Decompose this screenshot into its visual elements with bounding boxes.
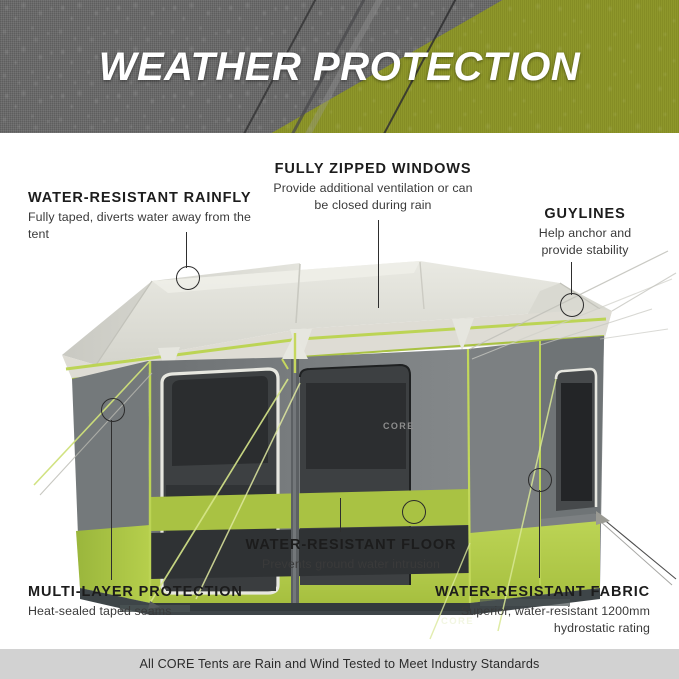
core-logo-rainfly: CORE xyxy=(383,421,415,431)
leader-line-fabric xyxy=(539,490,540,578)
callout-title-floor: WATER-RESISTANT FLOOR xyxy=(226,536,476,554)
callout-desc-fabric: Superior, water-resistant 1200mm hydrost… xyxy=(444,603,650,636)
callout-title-fabric: WATER-RESISTANT FABRIC xyxy=(398,583,650,601)
marker-circle-fabric xyxy=(528,468,552,492)
callout-fully-zipped-windows: FULLY ZIPPED WINDOWS Provide additional … xyxy=(258,160,488,213)
callout-desc-guylines: Help anchor and provide stability xyxy=(519,225,651,258)
callout-multi-layer-protection: MULTI-LAYER PROTECTION Heat-sealed taped… xyxy=(28,583,243,620)
callout-title-windows: FULLY ZIPPED WINDOWS xyxy=(258,160,488,178)
footer-bar: All CORE Tents are Rain and Wind Tested … xyxy=(0,649,679,679)
callout-water-resistant-rainfly: WATER-RESISTANT RAINFLY Fully taped, div… xyxy=(28,189,256,242)
infographic-root: WEATHER PROTECTION xyxy=(0,0,679,679)
marker-circle-guylines xyxy=(560,293,584,317)
leader-line-windows xyxy=(378,220,379,308)
callout-desc-rainfly: Fully taped, diverts water away from the… xyxy=(28,209,256,242)
page-title: WEATHER PROTECTION xyxy=(0,47,679,87)
leader-line-guylines xyxy=(571,262,572,295)
callout-desc-windows: Provide additional ventilation or can be… xyxy=(267,180,479,213)
callout-water-resistant-floor: WATER-RESISTANT FLOOR Prevents ground wa… xyxy=(226,536,476,573)
callout-desc-multilayer: Heat-sealed taped seams xyxy=(28,603,243,619)
leader-line-multilayer xyxy=(111,420,112,580)
marker-circle-multilayer xyxy=(101,398,125,422)
callout-water-resistant-fabric: WATER-RESISTANT FABRIC Superior, water-r… xyxy=(398,583,650,636)
marker-circle-floor xyxy=(402,500,426,524)
footer-text: All CORE Tents are Rain and Wind Tested … xyxy=(139,657,539,671)
callout-desc-floor: Prevents ground water intrusion xyxy=(226,556,476,572)
callout-title-rainfly: WATER-RESISTANT RAINFLY xyxy=(28,189,256,207)
leader-line-floor xyxy=(340,498,341,532)
callout-title-multilayer: MULTI-LAYER PROTECTION xyxy=(28,583,243,601)
header-banner: WEATHER PROTECTION xyxy=(0,0,679,133)
callout-title-guylines: GUYLINES xyxy=(500,205,670,223)
callout-guylines: GUYLINES Help anchor and provide stabili… xyxy=(500,205,670,258)
marker-circle-rainfly xyxy=(176,266,200,290)
